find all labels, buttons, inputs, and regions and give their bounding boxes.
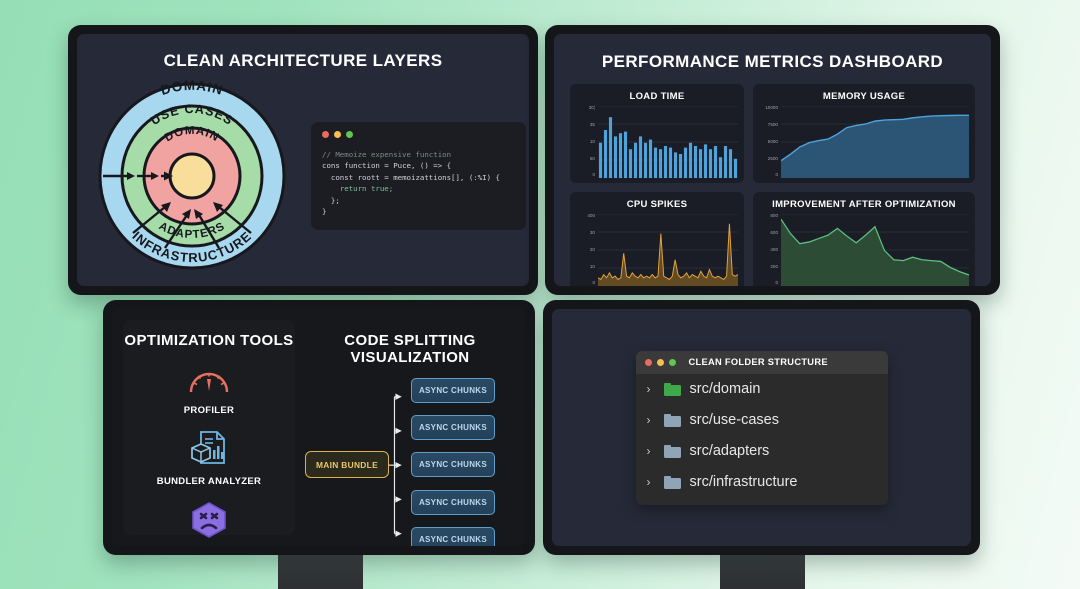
monitor-tools: OPTIMIZATION TOOLS PROFILER [103,300,535,555]
folder-screen: CLEAN FOLDER STRUCTURE › src/domain › sr… [552,309,971,546]
plot-memory-usage [781,106,969,178]
folder-window: CLEAN FOLDER STRUCTURE › src/domain › sr… [636,351,888,505]
folder-icon [664,445,681,458]
async-chunk-node[interactable]: ASYNC CHUNKS [411,490,495,515]
chart-title: LOAD TIME [576,91,738,102]
async-chunk-node[interactable]: ASYNC CHUNKS [411,452,495,477]
folder-icon [664,414,681,427]
y-tick: 0 [775,173,778,178]
y-axis: 30¦ 35 10 50 0 [576,106,598,178]
y-tick: 30 [590,231,595,236]
chart-title: MEMORY USAGE [759,91,969,102]
chevron-right-icon[interactable]: › [647,475,655,489]
tool-label: BUNDLER ANALYZER [157,476,261,487]
y-tick: 10 [590,140,595,145]
y-tick: 0 [592,281,595,286]
y-tick: 50 [590,157,595,162]
plot-cpu-spikes [598,214,738,286]
folder-name: src/use-cases [690,412,779,428]
architecture-title: CLEAN ARCHITECTURE LAYERS [77,34,529,71]
code-line: return true; [322,183,515,194]
folder-name: src/adapters [690,443,770,459]
plot-load-time [598,106,738,178]
code-line: }; [322,195,515,206]
monitor-stand-right [720,552,805,589]
tool-label: PROFILER [184,405,234,416]
minimize-dot-icon[interactable] [657,359,664,366]
folder-row-src-use-cases[interactable]: › src/use-cases [636,405,888,436]
y-tick: 0 [775,281,778,286]
tool-item-linter[interactable]: LINTER [189,501,229,546]
y-tick: 200 [770,265,778,270]
folder-window-header: CLEAN FOLDER STRUCTURE [636,351,888,374]
document-cube-icon [189,430,229,471]
code-line: cons function = Puce, () => { [322,160,515,171]
chart-card-cpu-spikes: CPU SPIKES 400 30 20 10 0 [570,192,744,286]
chart-card-improvement: IMPROVEMENT AFTER OPTIMIZATION 800 600 4… [753,192,975,286]
performance-screen: PERFORMANCE METRICS DASHBOARD LOAD TIME … [554,34,991,286]
y-tick: 10 [590,265,595,270]
folder-icon [664,476,681,489]
y-tick: 600 [770,231,778,236]
y-tick: 7500 [768,123,778,128]
close-dot-icon[interactable] [645,359,652,366]
async-chunk-node[interactable]: ASYNC CHUNKS [411,415,495,440]
folder-row-src-adapters[interactable]: › src/adapters [636,436,888,467]
code-line: const roott = memoizattions[], (:%I) { [322,172,515,183]
async-chunk-node[interactable]: ASYNC CHUNKS [411,527,495,546]
architecture-screen: CLEAN ARCHITECTURE LAYERS [77,34,529,286]
tool-item-bundler-analyzer[interactable]: BUNDLER ANALYZER [157,430,261,487]
hexagon-angry-face-icon [189,501,229,544]
code-line: // Memoize expensive function [322,149,515,160]
y-tick: 35 [590,123,595,128]
folder-icon [664,383,681,396]
y-tick: 20 [590,248,595,253]
minimize-dot-icon[interactable] [334,131,341,138]
folder-name: src/infrastructure [690,474,798,490]
chart-card-load-time: LOAD TIME 30¦ 35 10 50 0 [570,84,744,183]
folder-name: src/domain [690,381,761,397]
y-tick: 5000 [768,140,778,145]
gauge-icon [187,363,231,400]
y-axis: 400 30 20 10 0 [576,214,598,286]
chevron-right-icon[interactable]: › [647,382,655,396]
y-tick: 0 [592,173,595,178]
y-tick: 10000 [765,106,778,111]
optimization-tools-panel: OPTIMIZATION TOOLS PROFILER [123,320,295,535]
async-chunk-node[interactable]: ASYNC CHUNKS [411,378,495,403]
code-editor-panel: // Memoize expensive function cons funct… [311,122,526,230]
code-splitting-panel: CODE SPLITTING VISUALIZATION [305,320,515,535]
y-tick: 800 [770,214,778,219]
chevron-right-icon[interactable]: › [647,413,655,427]
folder-row-src-domain[interactable]: › src/domain [636,374,888,405]
tools-screen: OPTIMIZATION TOOLS PROFILER [112,309,526,546]
y-tick: 400 [587,214,595,219]
close-dot-icon[interactable] [322,131,329,138]
monitor-performance: PERFORMANCE METRICS DASHBOARD LOAD TIME … [545,25,1000,295]
y-tick: 400 [770,248,778,253]
folder-window-title: CLEAN FOLDER STRUCTURE [689,357,828,367]
main-bundle-node[interactable]: MAIN BUNDLE [305,451,389,478]
performance-title: PERFORMANCE METRICS DASHBOARD [554,34,991,72]
y-tick: 2500 [768,157,778,162]
code-splitting-title: CODE SPLITTING VISUALIZATION [305,332,515,366]
y-axis: 800 600 400 200 0 [759,214,781,286]
monitor-architecture: CLEAN ARCHITECTURE LAYERS [68,25,538,295]
y-axis: 10000 7500 5000 2500 0 [759,106,781,178]
chart-card-memory-usage: MEMORY USAGE 10000 7500 5000 2500 0 [753,84,975,183]
clean-architecture-diagram: DOMAIN USE CASES DOMAIN INFRASTRUCTURE A… [77,73,307,279]
maximize-dot-icon[interactable] [346,131,353,138]
y-tick: 30¦ [589,106,595,111]
chart-title: CPU SPIKES [576,199,738,210]
monitor-stand-left [278,552,363,589]
tool-item-profiler[interactable]: PROFILER [184,363,234,416]
folder-row-src-infrastructure[interactable]: › src/infrastructure [636,467,888,498]
maximize-dot-icon[interactable] [669,359,676,366]
code-line: } [322,206,515,217]
chart-title: IMPROVEMENT AFTER OPTIMIZATION [759,199,969,210]
monitor-folder: CLEAN FOLDER STRUCTURE › src/domain › sr… [543,300,980,555]
chevron-right-icon[interactable]: › [647,444,655,458]
plot-improvement [781,214,969,286]
optimization-tools-title: OPTIMIZATION TOOLS [124,332,293,349]
window-dots [322,131,515,138]
